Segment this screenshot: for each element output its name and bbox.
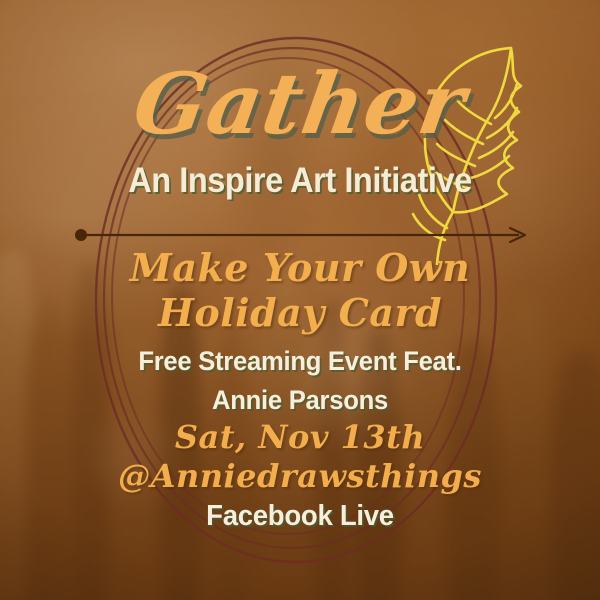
poster-headline: Make Your Own Holiday Card	[0, 246, 600, 336]
headline-line-2: Holiday Card	[0, 291, 600, 336]
poster-canvas: Gather An Inspire Art Initiative Make Yo…	[0, 0, 600, 600]
feature-line-2: Annie Parsons	[15, 381, 585, 420]
event-date: Sat, Nov 13th	[0, 418, 600, 457]
poster-when-block: Sat, Nov 13th @Anniedrawsthings	[0, 418, 600, 496]
platform-label: Facebook Live	[15, 500, 585, 533]
poster-feature-block: Free Streaming Event Feat. Annie Parsons	[15, 342, 585, 420]
social-handle: @Anniedrawsthings	[0, 457, 600, 496]
feature-line-1: Free Streaming Event Feat.	[15, 342, 585, 381]
page-title: Gather	[0, 62, 600, 146]
headline-line-1: Make Your Own	[0, 246, 600, 291]
poster-subtitle: An Inspire Art Initiative	[21, 163, 579, 198]
poster-text-stack: Gather An Inspire Art Initiative Make Yo…	[0, 0, 600, 600]
